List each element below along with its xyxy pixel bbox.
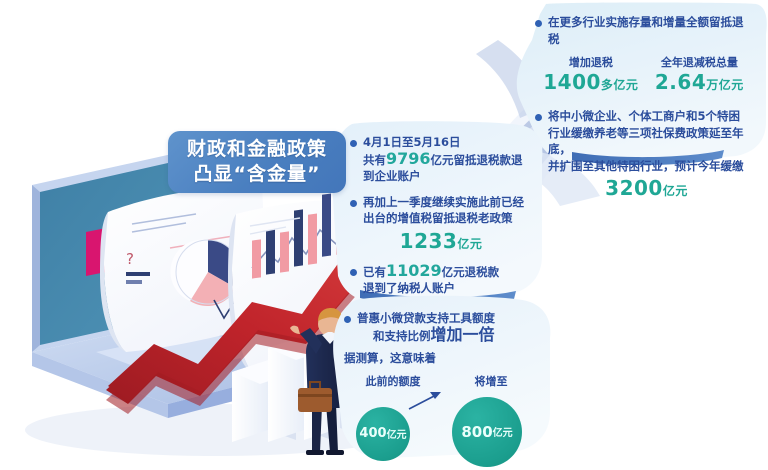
svg-text:?: ? [240, 328, 247, 344]
bullet-dot-icon [350, 200, 357, 207]
bullet-item: 将中小微企业、个体工商户和5个特困 行业缓缴养老等三项社保费政策延至年底， 并扩… [535, 108, 752, 174]
bullet-dot-icon [535, 20, 542, 27]
stat-value: 2.64万亿元 [655, 70, 744, 94]
title-line-1: 财政和金融政策 [187, 137, 327, 162]
stat-value: 1233亿元 [350, 229, 532, 253]
infographic-canvas: ? [0, 0, 768, 470]
note-text: 据测算，这意味着 [344, 350, 540, 367]
briefcase [298, 382, 332, 412]
bullet-text: 普惠小微贷款支持工具额度 和支持比例增加一倍 [357, 310, 495, 344]
bullet-dot-icon [535, 114, 542, 121]
bullet-text: 4月1日至5月16日 共有9796亿元留抵退税款退 到企业账户 [363, 134, 523, 185]
bullet-text: 将中小微企业、个体工商户和5个特困 行业缓缴养老等三项社保费政策延至年底， 并扩… [548, 108, 752, 174]
bullet-item: 已有11029亿元退税款 退到了纳税人账户 [350, 263, 532, 297]
stat-value: 3200亿元 [541, 176, 752, 200]
title-line-2: 凸显“含金量” [194, 162, 321, 187]
before-label: 此前的额度 [344, 373, 442, 389]
stat-label: 全年退减税总量 [655, 54, 744, 70]
bullet-text: 已有11029亿元退税款 退到了纳税人账户 [363, 263, 499, 297]
stat-label: 增加退税 [543, 54, 638, 70]
amount-circle-after: 800亿元 [452, 397, 522, 467]
bullet-item: 4月1日至5月16日 共有9796亿元留抵退税款退 到企业账户 [350, 134, 532, 185]
stat-item: 全年退减税总量 2.64万亿元 [655, 54, 744, 94]
laptop-screen [32, 150, 190, 352]
printout-sheet-1: ? [100, 184, 268, 352]
stat-group: 增加退税 1400多亿元 全年退减税总量 2.64万亿元 [535, 54, 752, 94]
comparison-circles: 400亿元 800亿元 [344, 393, 540, 465]
card-tax-rebate-expansion: 在更多行业实施存量和增量全额留抵退税 增加退税 1400多亿元 全年退减税总量 … [519, 2, 768, 170]
bullet-text: 在更多行业实施存量和增量全额留抵退税 [548, 14, 752, 47]
bullet-dot-icon [350, 140, 357, 147]
bullet-text: 再加上一季度继续实施此前已经 出台的增值税留抵退税老政策 [363, 194, 524, 227]
screen-accent-shape [86, 224, 126, 276]
card-inclusive-loan-support: 普惠小微贷款支持工具额度 和支持比例增加一倍 据测算，这意味着 此前的额度 将增… [330, 296, 552, 456]
stat-item: 增加退税 1400多亿元 [543, 54, 638, 94]
amount-circle-before: 400亿元 [356, 407, 410, 461]
bullet-item: 普惠小微贷款支持工具额度 和支持比例增加一倍 [344, 310, 540, 344]
card-rebate-progress: 4月1日至5月16日 共有9796亿元留抵退税款退 到企业账户 再加上一季度继续… [336, 122, 542, 304]
title-banner: 财政和金融政策 凸显“含金量” [168, 131, 346, 193]
laptop-base [32, 318, 330, 418]
printout-bar-chart [252, 193, 345, 278]
after-label: 将增至 [442, 373, 540, 389]
printout-pie-chart [170, 240, 240, 307]
svg-text:?: ? [126, 250, 134, 268]
bullet-dot-icon [344, 316, 351, 323]
stat-value: 1400多亿元 [543, 70, 638, 94]
bullet-item: 在更多行业实施存量和增量全额留抵退税 [535, 14, 752, 47]
bullet-item: 再加上一季度继续实施此前已经 出台的增值税留抵退税老政策 [350, 194, 532, 227]
bullet-dot-icon [350, 269, 357, 276]
